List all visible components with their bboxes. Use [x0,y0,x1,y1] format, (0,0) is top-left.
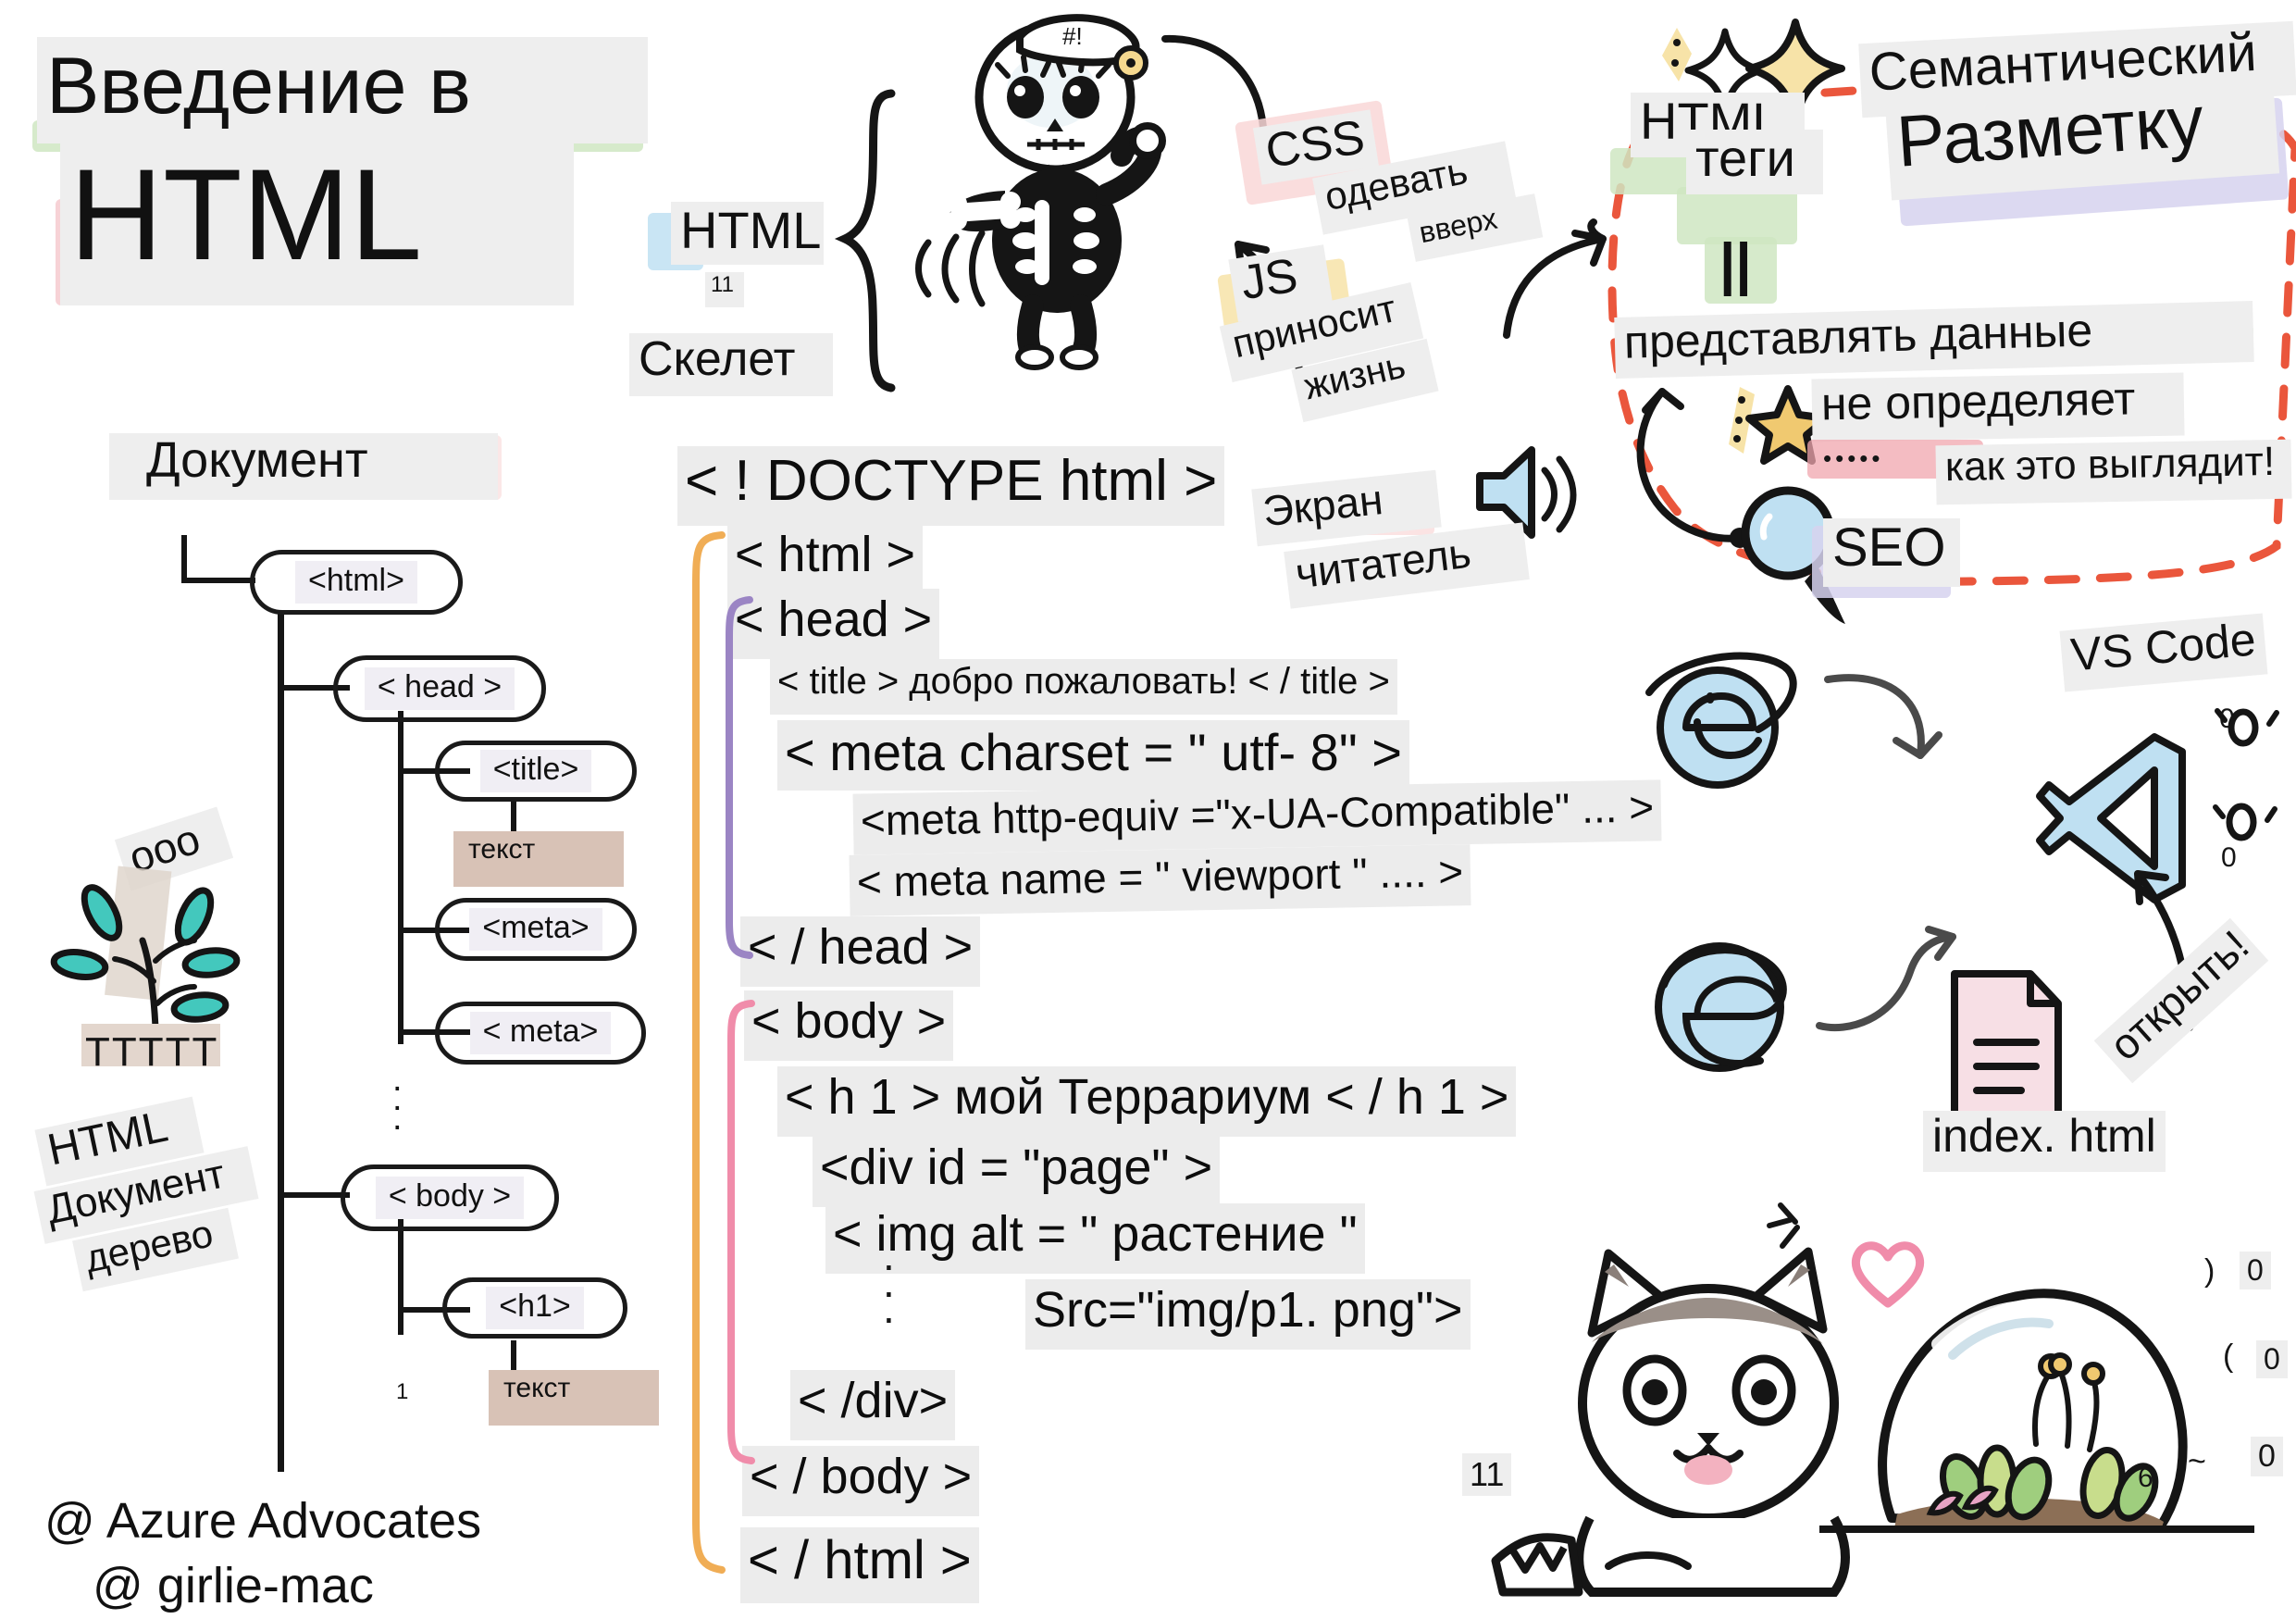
code-line-0: < ! DOCTYPE html > [677,446,1224,526]
tree-line-body [278,1192,350,1198]
tree-ellipsis-head: ... [392,1070,403,1128]
terrarium-mark-1: 0 [2219,704,2235,735]
tree-node-meta-1[interactable]: <meta> [435,898,637,961]
tree-node-html[interactable]: <html> [250,550,463,615]
code-line-14: < / body > [742,1446,979,1516]
tree-line-root-vert [181,535,187,583]
tree-node-h1-text: текст [489,1370,659,1426]
tree-node-title-label: <title> [480,750,592,792]
skeleton-html-sub: 11 [705,272,744,307]
plant-pot-label: TTTTT [85,1029,218,1076]
tree-tick-label: 1 [396,1379,408,1405]
plant-label-top: ooo [115,806,233,890]
vscode-icon [2036,722,2203,889]
microsoft-edge-icon [1638,926,1805,1092]
open-label: открыть! [2094,918,2269,1084]
vscode-decor-marks [2201,704,2296,898]
tree-node-body[interactable]: < body > [341,1164,559,1231]
tree-node-title-text: текст [453,831,624,887]
code-line-15: < / html > [740,1527,979,1603]
terrarium-mark-9: 6 [2138,1463,2153,1494]
seo-hook-icon [1629,384,1758,560]
code-line-1: < html > [727,524,923,594]
tree-node-h1-label: <h1> [486,1287,584,1329]
cat-page-number: 11 [1462,1453,1511,1496]
code-line-12: Src="img/p1. png"> [1025,1279,1471,1350]
tree-node-head[interactable]: < head > [333,655,546,722]
tree-node-body-label: < body > [376,1177,524,1219]
heart-icon [1846,1231,1930,1314]
tree-node-head-label: < head > [365,667,515,710]
title-line1: Введение в [37,37,648,143]
terrarium-mark-6: 0 [2256,1340,2288,1378]
credit-line-1: @ Azure Advocates [44,1492,481,1550]
code-line-8: < body > [744,990,953,1061]
semantic-not-define: не определяет [1811,372,2184,442]
code-line-9: < h 1 > мой Террариум < / h 1 > [777,1066,1516,1137]
terrarium-mark-8: 0 [2251,1437,2283,1476]
sparkle-small-icon [1758,1194,1832,1259]
vscode-label: VS Code [2060,614,2268,692]
tree-node-h1[interactable]: <h1> [442,1277,627,1339]
code-line-5: <meta http-equiv ="x-UA-Compatible" ... … [852,779,1661,854]
code-line-7: < / head > [740,916,980,987]
motion-lines-icon [912,231,995,305]
html-bracket-orange [687,529,727,1575]
skeleton-illustration: #! [916,9,1222,370]
code-line-13: < /div> [790,1370,955,1440]
brace-icon [838,88,912,393]
tree-line-root-horz [181,578,255,583]
browser-squiggle-arrow-2 [1814,916,1971,1065]
svg-text:#!: #! [1062,22,1083,50]
code-ellipsis: ... [883,1242,895,1322]
code-line-4: < meta charset = " utf- 8" > [777,720,1409,791]
code-line-10: <div id = "page" > [813,1137,1220,1207]
semantic-how-looks: как это выглядит! [1935,440,2291,505]
skeleton-html-label: HTML [671,202,824,265]
terrarium-illustration [1842,1213,2230,1601]
semantic-tags-word: теги [1686,130,1823,194]
tree-node-meta-1-label: <meta> [469,908,602,951]
code-line-11: < img alt = " растение " [825,1203,1365,1274]
terrarium-mark-7: ~ [2188,1444,2206,1480]
terrarium-mark-2: 0 [2221,842,2237,874]
semantic-represent: представлять данные [1614,301,2253,379]
browser-squiggle-arrow-1 [1818,666,1967,805]
index-html-label: index. html [1923,1111,2166,1172]
terrarium-mark-4: ) [2204,1253,2215,1289]
tree-head-vert [398,711,403,1044]
body-bracket-pink [720,1000,757,1464]
sketchnote-canvas: Введение в HTML HTML 11 Скелет #! [0,0,2296,1619]
terrarium-base-line [1819,1526,2254,1533]
tree-caption: Документ [109,433,498,500]
tree-body-vert [398,1214,403,1335]
code-line-2: < head > [727,589,939,659]
terrarium-mark-3: 0 [2240,1252,2271,1289]
credit-line-2: @ girlie-mac [93,1557,374,1614]
code-line-3: < title > добро пожаловать! < / title > [770,659,1397,715]
tree-node-html-label: <html> [295,561,417,604]
terrarium-mark-5: ( [2223,1339,2233,1375]
skeleton-label: Скелет [629,333,833,396]
tree-node-meta-2[interactable]: < meta> [435,1002,646,1065]
tree-node-title[interactable]: <title> [435,741,637,802]
semantic-equals: || [1719,231,1752,297]
code-line-6: < meta name = " viewport " .... > [849,844,1471,916]
tree-trunk [278,611,284,1472]
tree-node-meta-2-label: < meta> [470,1012,612,1054]
cat-illustration [1490,1222,1934,1611]
title-line2: HTML [60,143,574,305]
semantic-dots: ••••• [1823,444,1884,473]
semantic-seo: SEO [1823,518,1960,587]
